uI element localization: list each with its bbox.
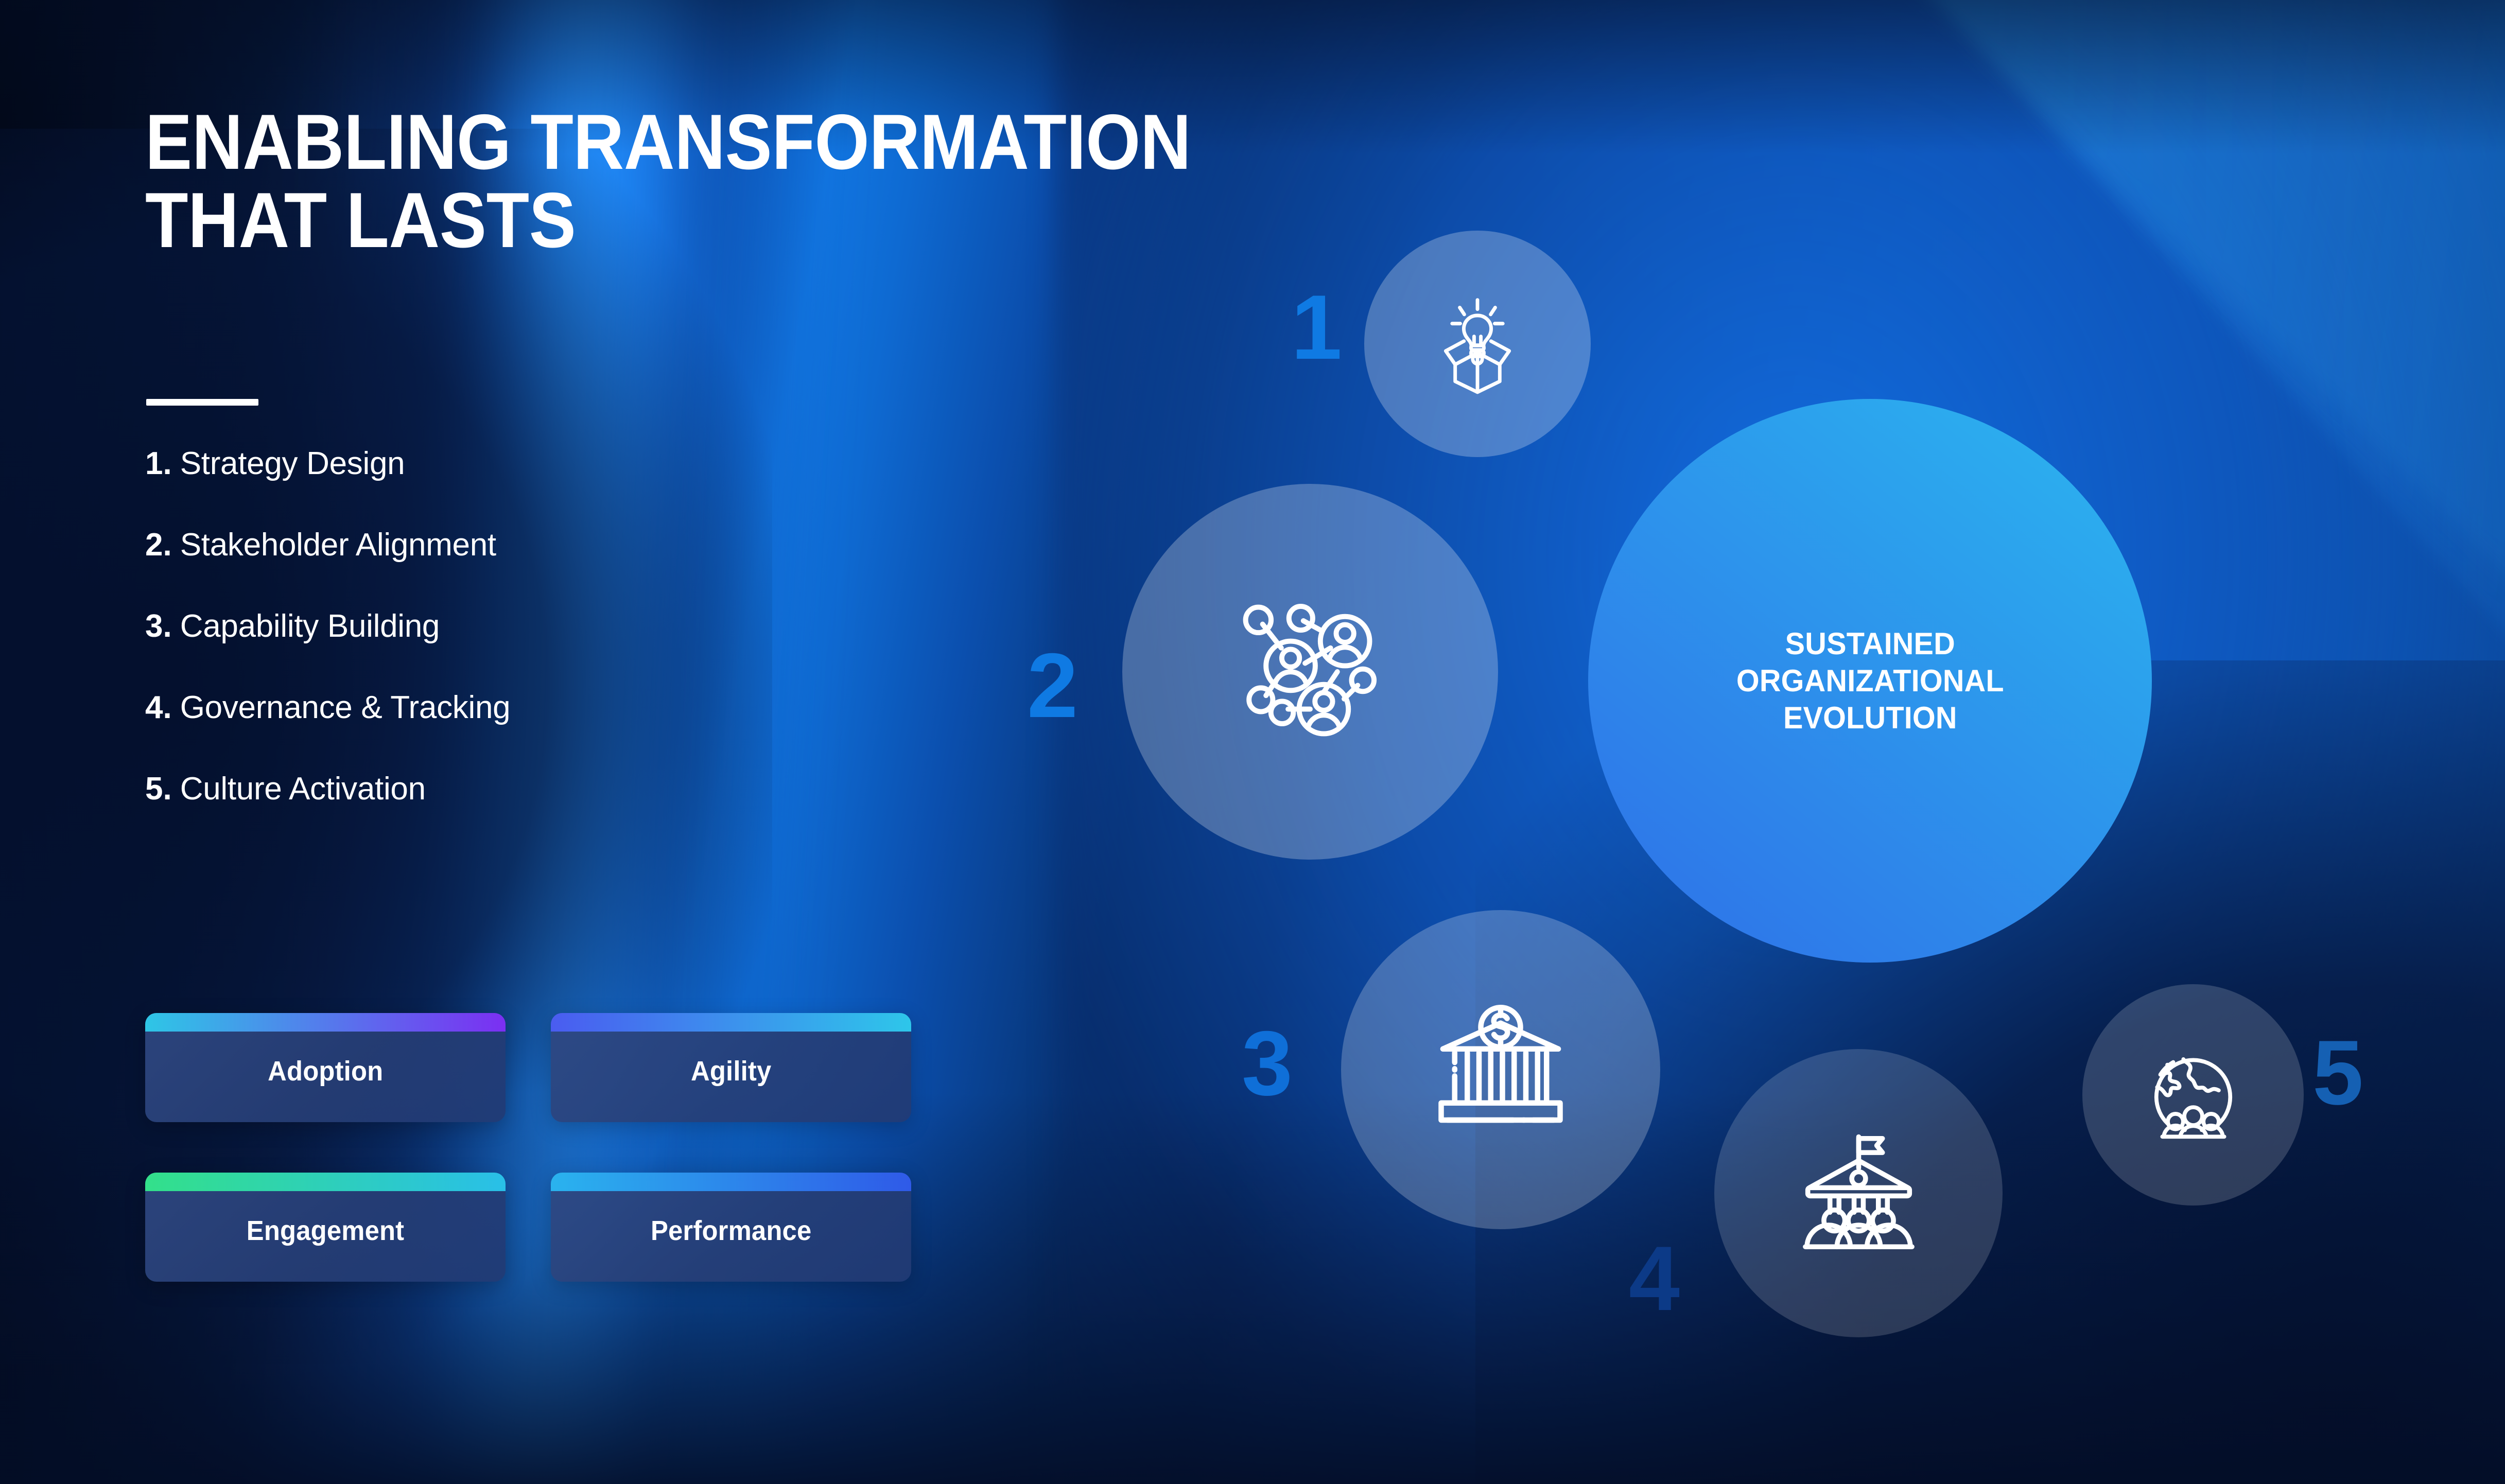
people-network-icon [1225, 587, 1395, 757]
step-number-4: 4 [1629, 1233, 1680, 1324]
step-number-2: 2 [1027, 640, 1078, 731]
slide-canvas: ENABLING TRANSFORMATION THAT LASTS 1. St… [0, 0, 2505, 1484]
step-circle-5[interactable] [2082, 984, 2304, 1206]
center-outcome-label: SUSTAINED ORGANIZATIONAL EVOLUTION [1736, 625, 2004, 737]
center-outcome-circle[interactable]: SUSTAINED ORGANIZATIONAL EVOLUTION [1588, 399, 2152, 963]
globe-with-people-icon [2141, 1042, 2246, 1148]
lightbulb-in-open-box-icon [1423, 290, 1532, 398]
bank-with-dollar-coin-icon [1429, 998, 1573, 1142]
step-circle-1[interactable] [1364, 231, 1591, 457]
institution-flag-people-icon [1793, 1128, 1924, 1259]
step-number-5: 5 [2312, 1027, 2363, 1119]
step-number-1: 1 [1291, 282, 1342, 373]
step-number-3: 3 [1242, 1018, 1293, 1109]
step-circle-3[interactable] [1341, 910, 1660, 1229]
step-circle-4[interactable] [1714, 1049, 2003, 1337]
step-circle-2[interactable] [1122, 484, 1498, 860]
process-circle-diagram: SUSTAINED ORGANIZATIONAL EVOLUTION [0, 0, 2505, 1484]
